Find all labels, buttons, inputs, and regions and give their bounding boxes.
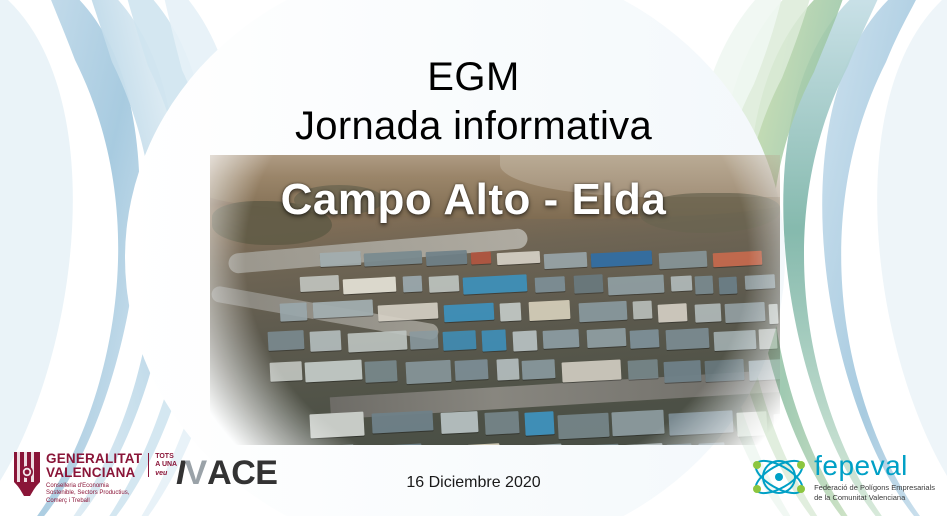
gva-sub-line-1: Conselleria d'Economia	[46, 483, 177, 491]
fepeval-sub-line-1: Federació de Polígons Empresarials	[814, 483, 935, 492]
gva-motto-line-1: TOTS	[155, 453, 177, 461]
slide-title-line-2: Jornada informativa	[0, 104, 947, 149]
fepeval-logo: fepeval Federació de Polígons Empresaria…	[748, 448, 935, 506]
ivace-logo: I V ACE	[176, 456, 277, 490]
fepeval-sub-line-2: de la Comunitat Valenciana	[814, 493, 935, 502]
slide-title-line-1: EGM	[0, 56, 947, 98]
gva-divider	[148, 453, 149, 477]
gva-sub-line-3: Comerç i Treball	[46, 498, 177, 506]
generalitat-valenciana-shield-icon	[14, 452, 40, 496]
gva-sub-line-2: Sostenible, Sectors Productius,	[46, 490, 177, 498]
slide-title-block: EGM Jornada informativa	[0, 56, 947, 149]
generalitat-valenciana-logo: GENERALITAT VALENCIANA TOTS A UNA veu Co…	[14, 452, 177, 505]
gva-motto-line-2: A UNA	[155, 461, 177, 469]
ivace-logo-part-3: ACE	[207, 456, 277, 490]
location-title: Campo Alto - Elda	[0, 175, 947, 225]
gva-name-line-2: VALENCIANA	[46, 466, 142, 480]
fepeval-atom-icon	[748, 448, 810, 506]
fepeval-name: fepeval	[814, 452, 935, 480]
presentation-slide: EGM Jornada informativa Campo Alto - Eld…	[0, 0, 947, 516]
gva-name-line-1: GENERALITAT	[46, 452, 142, 466]
gva-motto-line-3: veu	[155, 470, 177, 478]
ivace-logo-part-2: V	[184, 456, 207, 490]
